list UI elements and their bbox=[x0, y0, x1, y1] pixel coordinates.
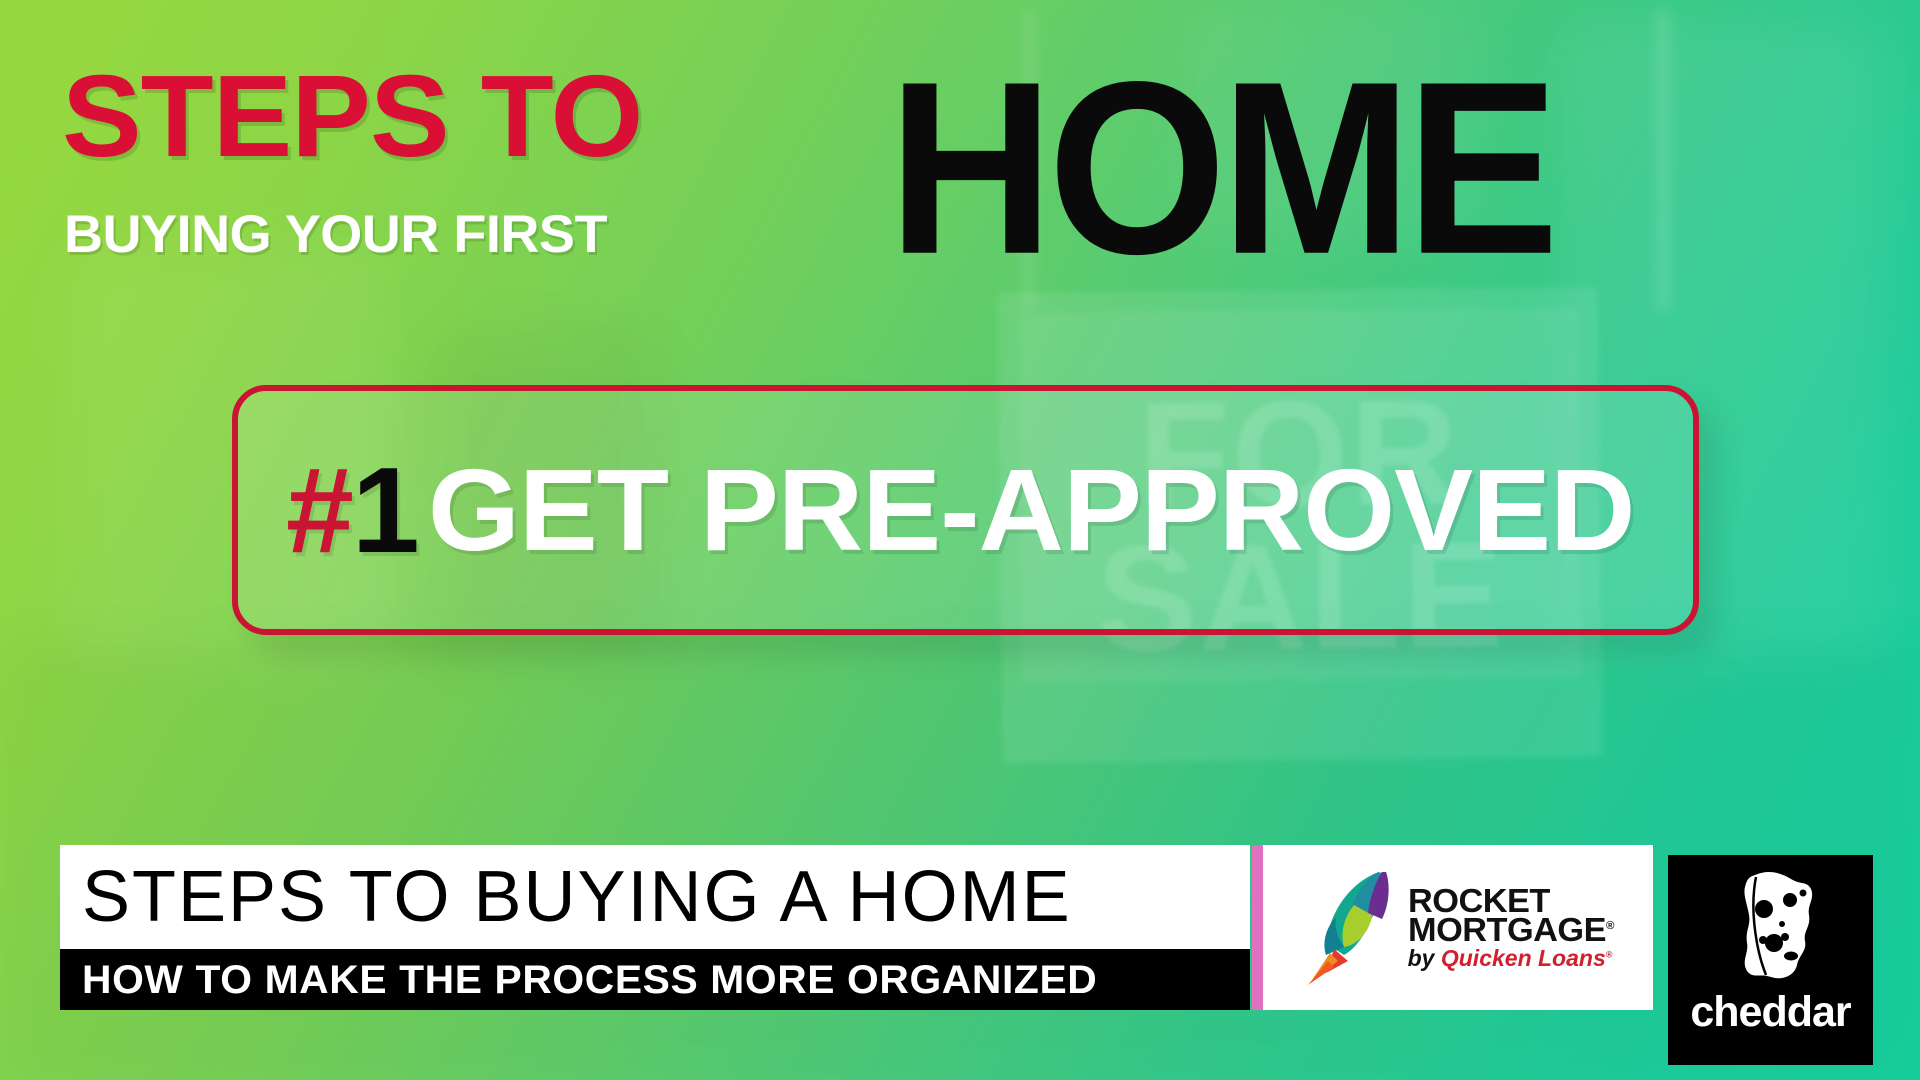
sponsor-byline: by Quicken Loans® bbox=[1408, 948, 1613, 968]
sponsor-line-2: MORTGAGE® bbox=[1408, 915, 1614, 944]
rocket-icon bbox=[1304, 869, 1400, 987]
lower-third-divider bbox=[1252, 845, 1263, 1010]
step-label: GET PRE-APPROVED bbox=[405, 452, 1706, 568]
lower-third-subtitle-bar: HOW TO MAKE THE PROCESS MORE ORGANIZED bbox=[60, 949, 1250, 1010]
cheese-wedge-icon bbox=[1719, 869, 1823, 987]
headline-keyword: HOME bbox=[888, 46, 1553, 292]
lower-third-title-bar: STEPS TO BUYING A HOME bbox=[60, 845, 1250, 949]
sponsor-brand: Quicken Loans bbox=[1441, 945, 1606, 971]
sponsor-wordmark: ROCKET MORTGAGE® by Quicken Loans® bbox=[1408, 886, 1613, 968]
lower-third-title: STEPS TO BUYING A HOME bbox=[82, 861, 1072, 933]
network-bug: cheddar bbox=[1668, 855, 1873, 1065]
network-name: cheddar bbox=[1690, 991, 1850, 1034]
step-number-prefix: # bbox=[286, 442, 352, 578]
step-number: #1 bbox=[286, 449, 418, 571]
sponsor-by-text: by bbox=[1408, 945, 1441, 971]
sponsor-panel: ROCKET MORTGAGE® by Quicken Loans® bbox=[1263, 845, 1653, 1010]
lower-third-subtitle: HOW TO MAKE THE PROCESS MORE ORGANIZED bbox=[82, 960, 1097, 1000]
sponsor-trademark: ® bbox=[1606, 920, 1614, 932]
lower-third: STEPS TO BUYING A HOME HOW TO MAKE THE P… bbox=[60, 845, 1250, 1010]
broadcast-graphic-stage: FOR SALE STEPS TO BUYING YOUR FIRST HOME… bbox=[0, 0, 1920, 1080]
headline-subtitle: BUYING YOUR FIRST bbox=[64, 208, 607, 261]
headline-eyebrow: STEPS TO bbox=[62, 58, 642, 174]
step-callout-box: #1 GET PRE-APPROVED bbox=[232, 385, 1699, 635]
headline-block: STEPS TO BUYING YOUR FIRST HOME bbox=[62, 58, 1762, 278]
